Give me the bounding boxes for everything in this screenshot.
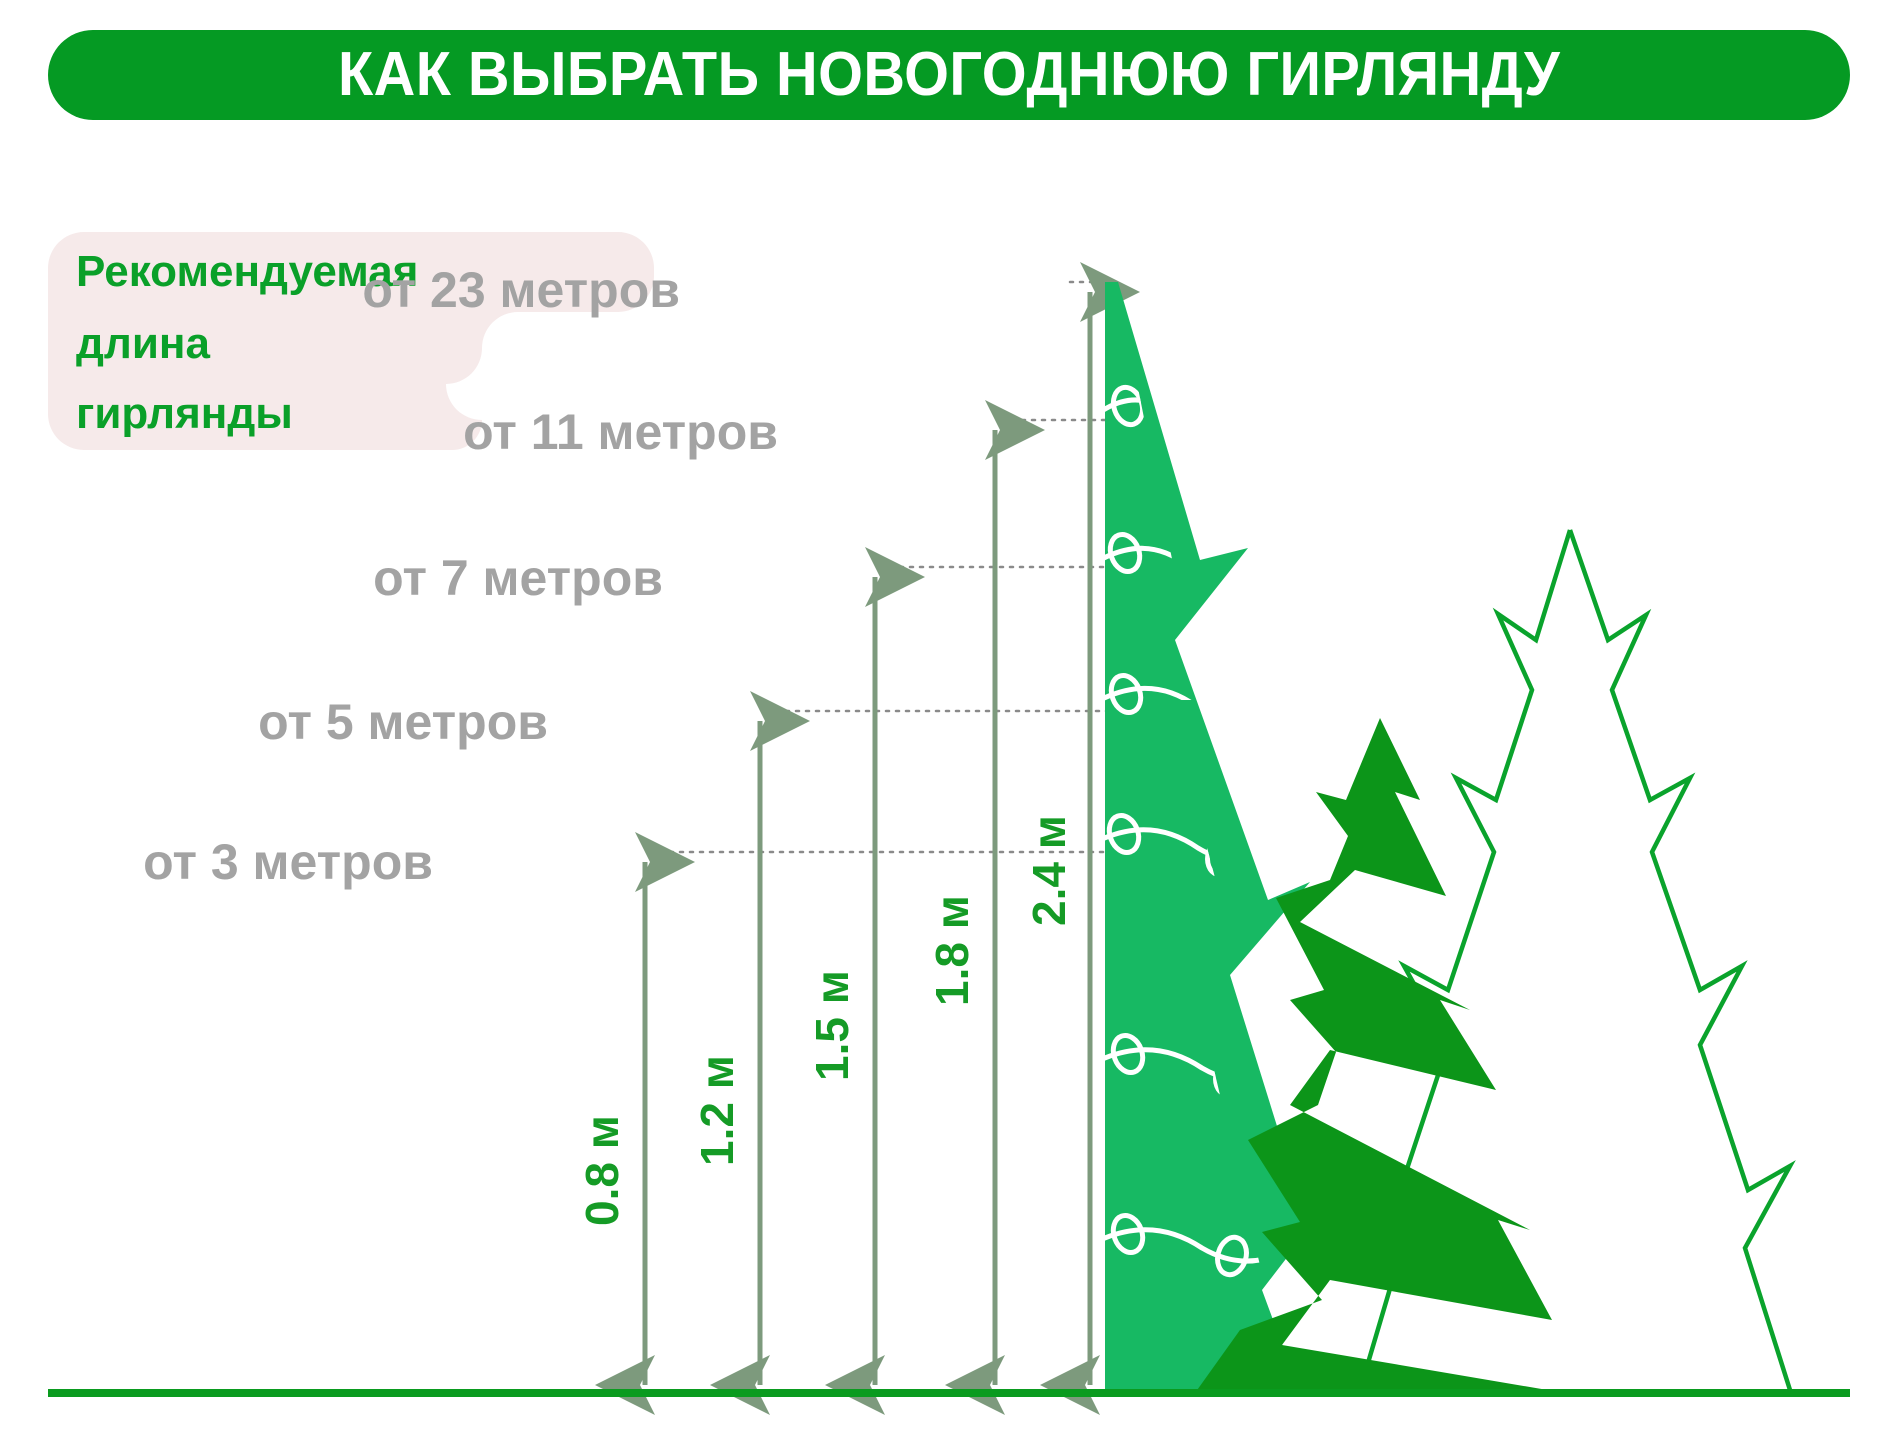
illustration-layer [0, 0, 1898, 1436]
dimension-arrows [645, 292, 1090, 1385]
infographic-canvas: КАК ВЫБРАТЬ НОВОГОДНЮЮ ГИРЛЯНДУ Рекоменд… [0, 0, 1898, 1436]
